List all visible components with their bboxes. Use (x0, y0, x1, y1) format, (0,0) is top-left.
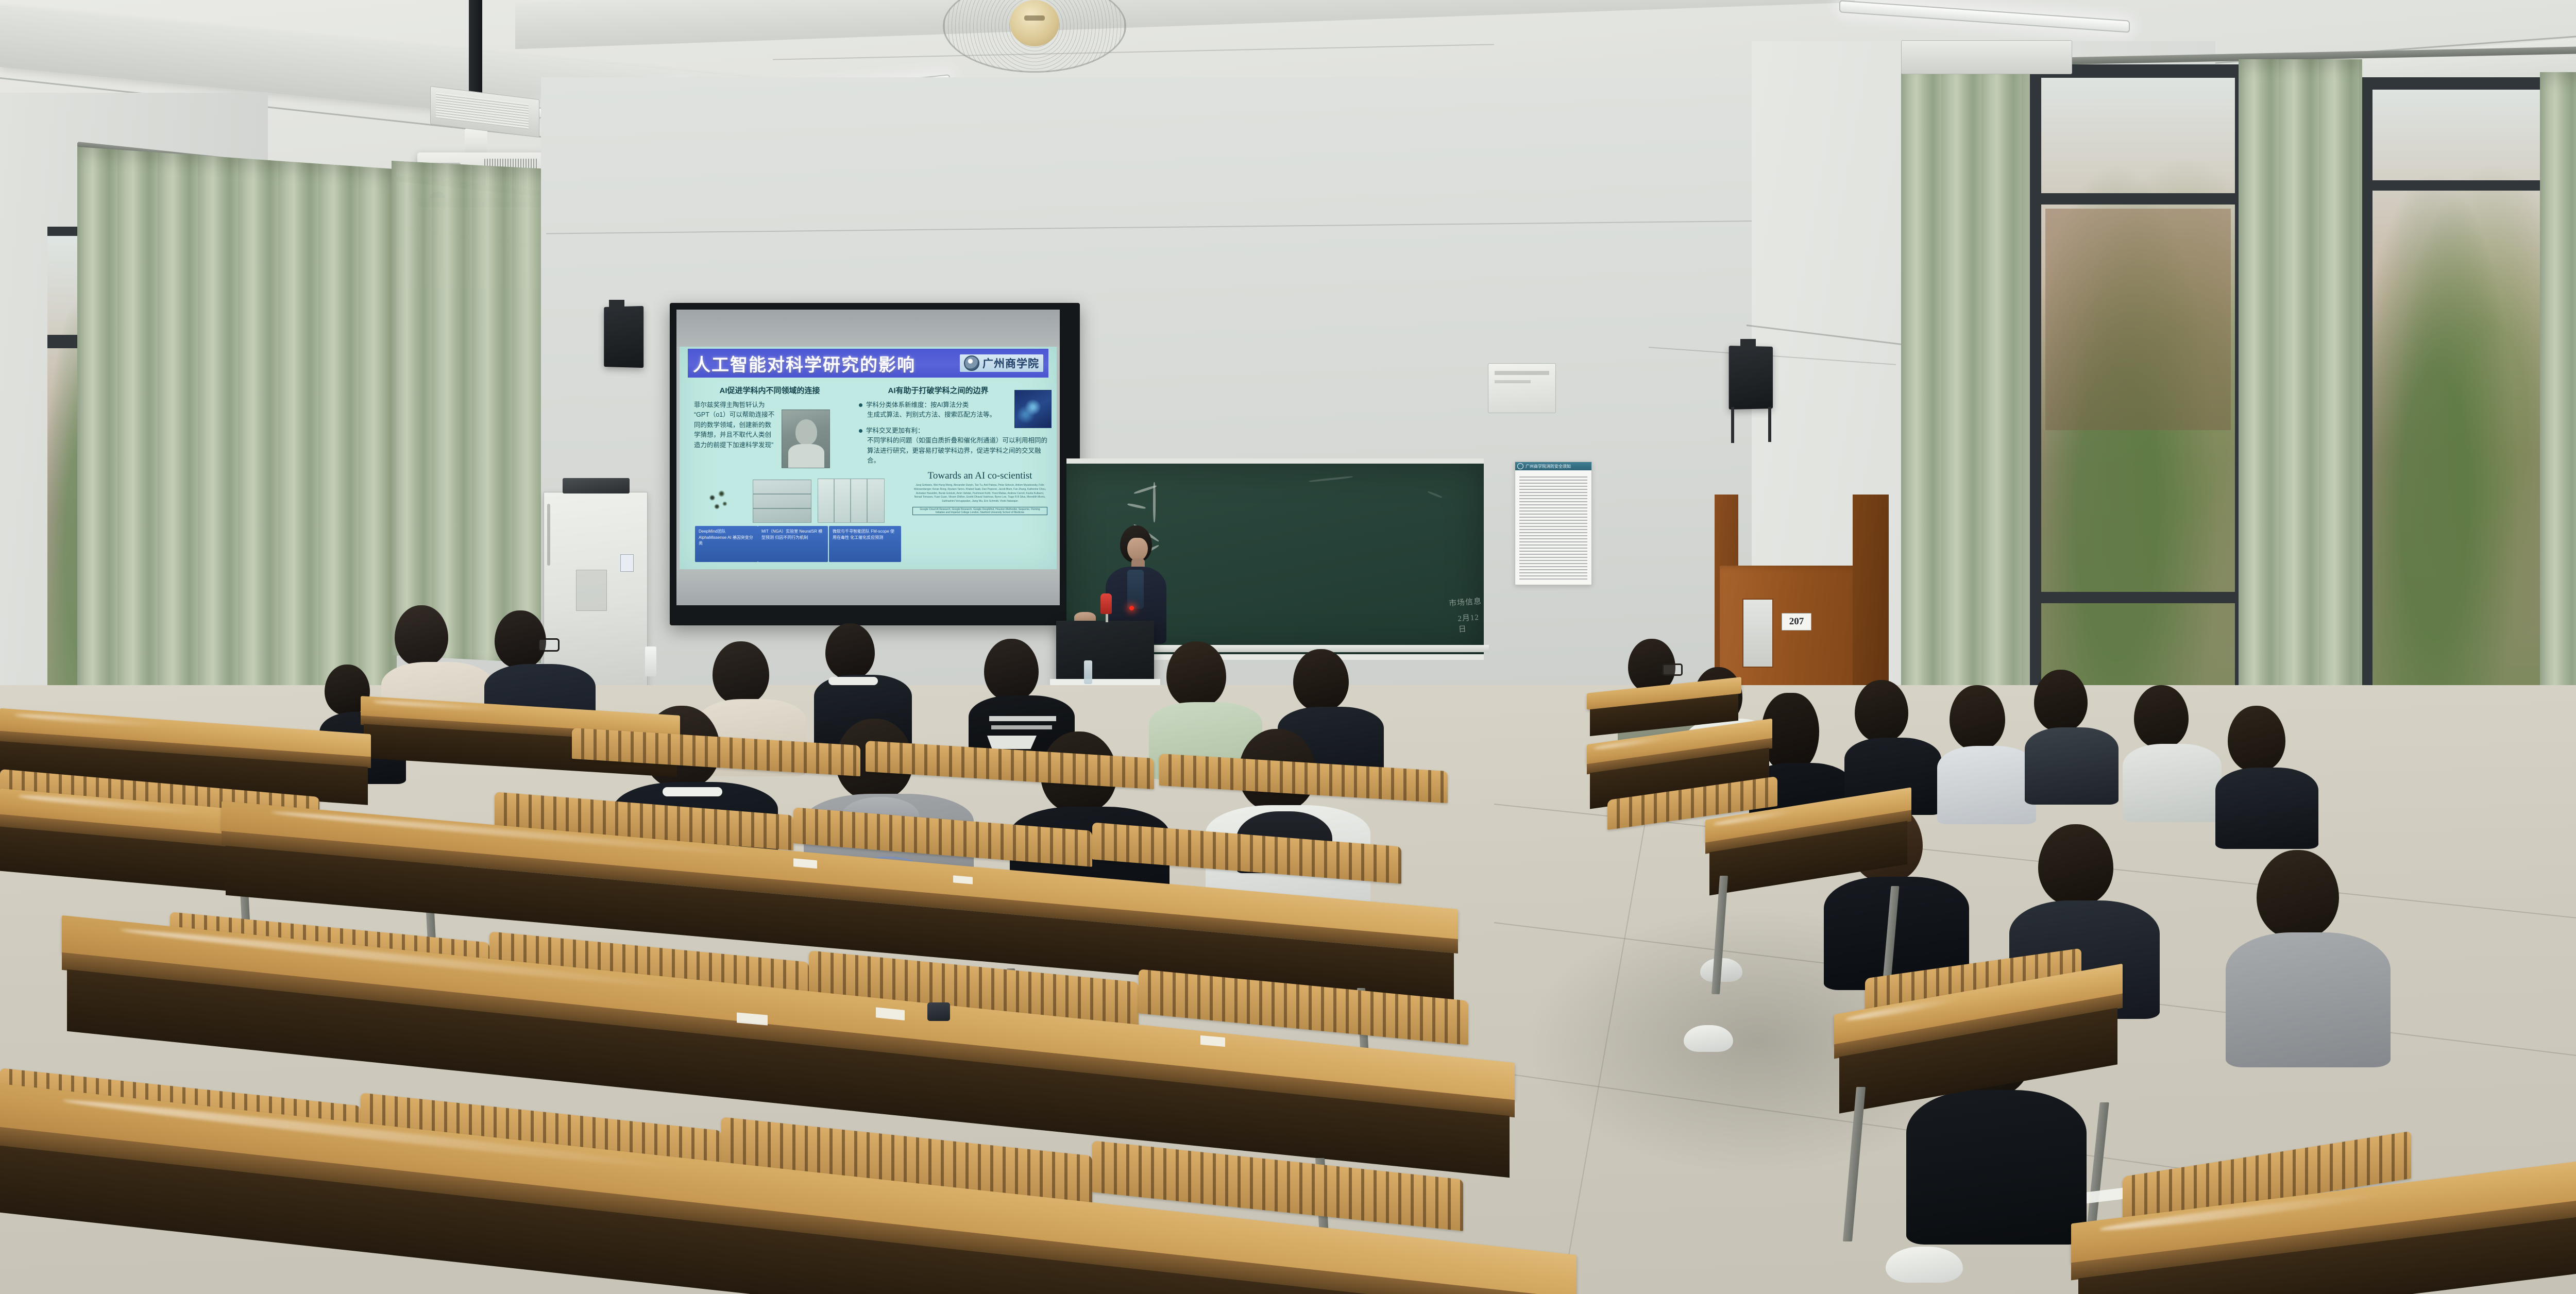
slide-title: 人工智能对科学研究的影响 (693, 351, 916, 376)
slide-title-band: 人工智能对科学研究的影响 广州商学院 (688, 349, 1048, 378)
door-viewport (1742, 599, 1773, 668)
paper-authors: Juraj Gottweis, Wei-Hung Weng, Alexander… (912, 484, 1047, 504)
podium-led-indicator (1129, 606, 1134, 610)
tree-figure (818, 479, 885, 523)
left-curtain-panel-2[interactable] (392, 161, 562, 664)
seal-icon (964, 355, 979, 371)
left-curtain-panel-1[interactable] (77, 147, 397, 730)
window-view-building (2045, 209, 2231, 430)
slide-canvas: 人工智能对科学研究的影响 广州商学院 AI促进学科内不同领域的连接 菲尔兹奖得主… (680, 347, 1057, 569)
chalk-note: 市场信息 (1448, 595, 1482, 608)
slide-left-heading: AI促进学科内不同领域的连接 (695, 385, 844, 396)
projection-screen: 人工智能对科学研究的影响 广州商学院 AI促进学科内不同领域的连接 菲尔兹奖得主… (670, 303, 1080, 625)
notice-header-bar: 广州商学院消防安全须知 (1515, 462, 1591, 470)
slide-bullet-1: 学科分类体系新维度：按AI算法分类 生成式算法、判别式方法、搜索匹配方法等。 (859, 400, 1008, 420)
water-bottle-desk[interactable] (645, 646, 656, 676)
speaker-cable-right (1731, 407, 1734, 443)
caption-box-1: DeepMind团队 AlphaMissense AI 基因突变分类 (695, 526, 758, 562)
student-right-foreground-3 (2226, 850, 2396, 1066)
student-right-8 (2215, 706, 2324, 845)
water-bottle-podium[interactable] (1084, 660, 1092, 684)
paper-title: Towards an AI co-scientist (912, 470, 1047, 482)
student-right-6 (2025, 670, 2123, 798)
chalk-date: 2月12日 (1458, 611, 1485, 634)
wall-speaker-left (604, 306, 643, 368)
right-curtain-panel-3[interactable] (2540, 72, 2576, 737)
right-window-glass (2030, 64, 2246, 708)
student-right-7 (2123, 685, 2226, 819)
bullet-2-lead: 学科交叉更加有利： (866, 427, 924, 434)
notice-seal-icon (1517, 463, 1523, 469)
screen-margin-bottom (676, 569, 1060, 605)
lecturer-face (1127, 538, 1148, 560)
right-curtain-panel-2[interactable] (2239, 59, 2362, 739)
speaker-cable-right-2 (1768, 407, 1771, 442)
bullet-2-detail: 不同学科的问题（如蛋白质折叠和催化剂通道）可以利用相同的算法进行研究，更容易打破… (867, 436, 1049, 466)
paper-affiliations: Google Cloud AI Research, Google Researc… (912, 507, 1047, 515)
right-wall-ac-duct (1901, 40, 2072, 74)
cabinet-top-clutter (563, 478, 630, 493)
slide-right-heading: AI有助于打破学科之间的边界 (861, 385, 1015, 396)
portrait-photo (782, 410, 830, 468)
mouse-on-desk[interactable] (927, 1002, 950, 1021)
wall-fan-1 (943, 0, 1128, 72)
speaker-bracket-right (1740, 339, 1756, 349)
bullet-1-detail: 生成式算法、判别式方法、搜索匹配方法等。 (867, 410, 1008, 420)
caption-box-3: 微软与千寻智能团队 FM-scope 使用在毒性 化工催化反应预测 (829, 526, 901, 562)
network-thumbnail (1014, 390, 1052, 428)
eyeglasses-icon (1662, 663, 1683, 676)
cabinet-sticker (620, 554, 634, 572)
slide-left-body: 菲尔兹奖得主陶哲轩认为 “GPT（o1）可以帮助连接不同的数学领域，创建新的数学… (694, 400, 776, 450)
hoodie-graphic-line-1 (989, 716, 1056, 721)
paper-block: Towards an AI co-scientist Juraj Gottwei… (912, 470, 1047, 516)
bullet-icon (859, 429, 862, 433)
microphone[interactable] (1100, 593, 1112, 614)
yankees-collar-stripe (663, 787, 722, 796)
institution-logo-text: 广州商学院 (982, 355, 1039, 371)
molecule-figure (696, 482, 742, 522)
collar-stripe (828, 677, 878, 685)
eyeglasses-icon (538, 638, 560, 652)
hoodie-graphic-line-2 (991, 725, 1052, 729)
wall-speaker-right (1729, 346, 1773, 410)
screen-margin-top (676, 310, 1060, 347)
institution-logo: 广州商学院 (960, 354, 1043, 372)
caption-box-2: MIT（NGA）实验室 NeuralSR 模型预测 归因不同行为机制 (758, 526, 828, 562)
speaker-bracket-left (609, 300, 624, 309)
wall-control-box[interactable] (1488, 363, 1556, 413)
bullet-icon (859, 403, 862, 407)
door-number-plate: 207 (1782, 613, 1811, 631)
grid-figure (753, 480, 811, 523)
right-window-glass-2 (2362, 77, 2543, 685)
classroom-photo: 人工智能对科学研究的影响 广州商学院 AI促进学科内不同领域的连接 菲尔兹奖得主… (0, 0, 2576, 1294)
slide-bullet-2: 学科交叉更加有利： 不同学科的问题（如蛋白质折叠和催化剂通道）可以利用相同的算法… (859, 426, 1049, 466)
shoe-1 (1684, 1025, 1733, 1052)
notice-poster: 广州商学院消防安全须知 (1515, 462, 1592, 585)
shoe-2 (1886, 1247, 1963, 1283)
cabinet-handle[interactable] (547, 504, 550, 566)
notice-header-text: 广州商学院消防安全须知 (1526, 464, 1571, 469)
lecturer-shirt (1127, 570, 1144, 609)
bullet-1-lead: 学科分类体系新维度：按AI算法分类 (866, 401, 969, 408)
